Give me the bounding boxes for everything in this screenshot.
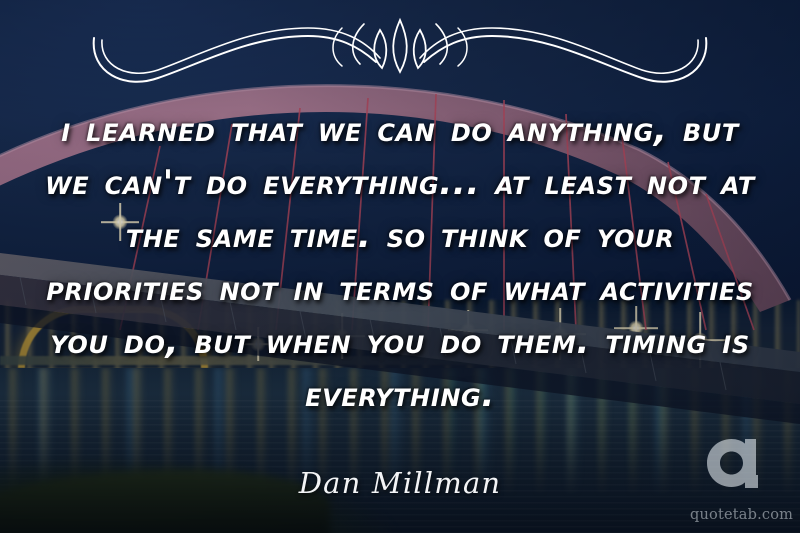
- watermark[interactable]: quotetab.com: [690, 437, 786, 525]
- quote-card: I learned that we can do anything, but w…: [0, 0, 800, 533]
- quote-text: I learned that we can do anything, but w…: [44, 104, 756, 422]
- quotetab-q-logo-icon[interactable]: [704, 437, 770, 499]
- flourish-ornament-icon: [80, 14, 720, 86]
- quote-author: Dan Millman: [0, 466, 800, 500]
- watermark-site-label[interactable]: quotetab.com: [690, 507, 786, 523]
